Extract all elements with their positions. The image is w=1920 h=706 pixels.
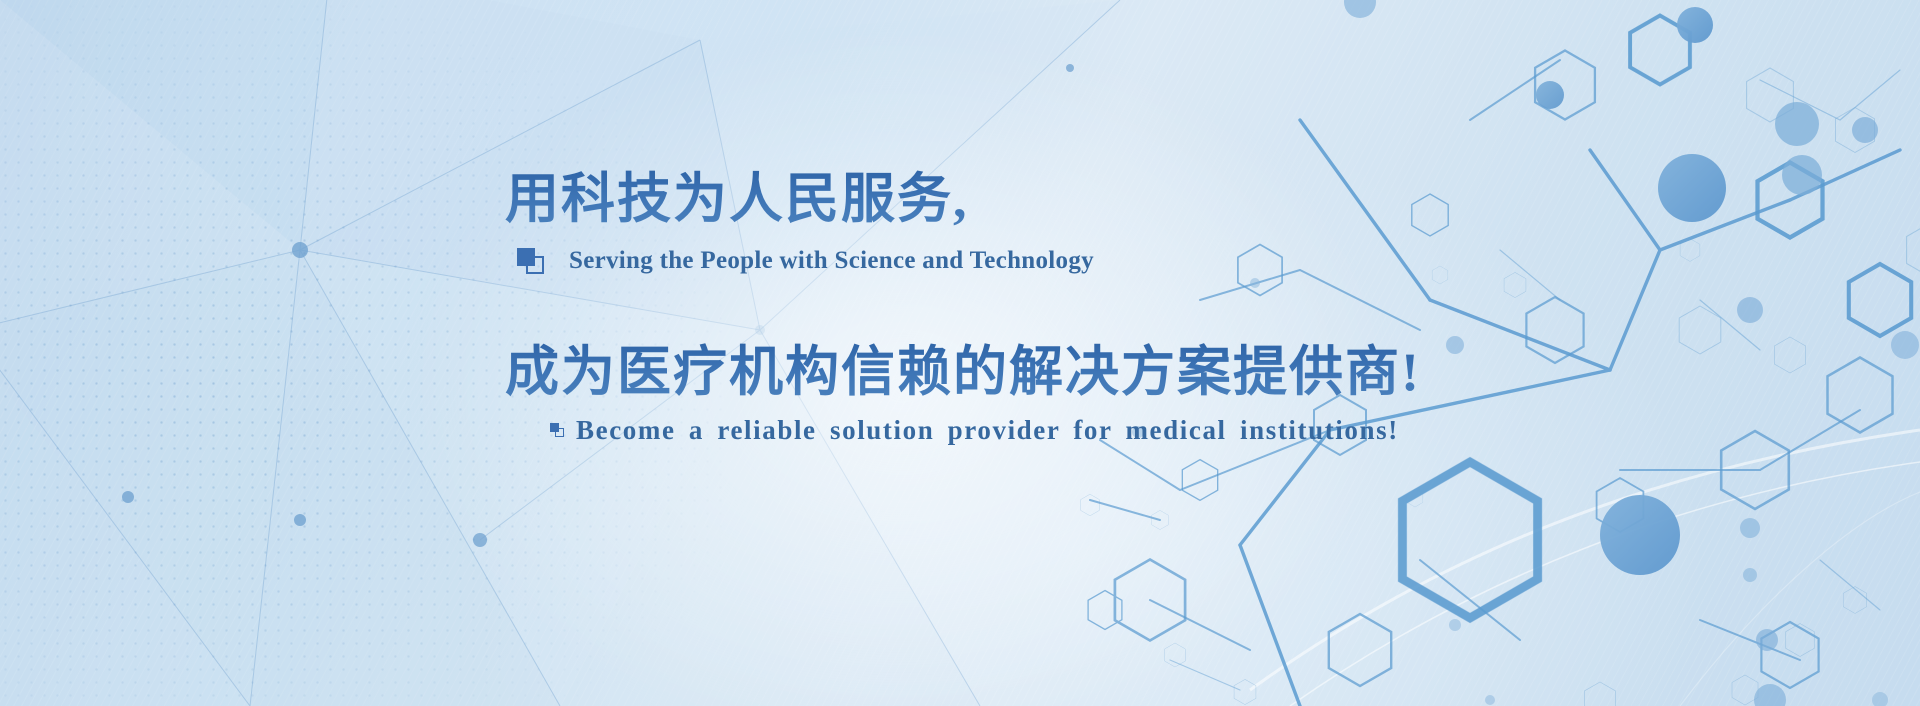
headline-secondary: 成为医疗机构信赖的解决方案提供商!: [505, 343, 1485, 402]
double-square-icon-small-outline: [555, 428, 564, 437]
subtitle-secondary: Become a reliable solution provider for …: [576, 415, 1399, 446]
headline-block: 用科技为人民服务, Serving the People with Scienc…: [505, 170, 1485, 446]
hero-banner: 用科技为人民服务, Serving the People with Scienc…: [0, 0, 1920, 706]
headline-primary: 用科技为人民服务,: [505, 170, 1485, 229]
double-square-icon: [517, 248, 543, 274]
subtitle-primary-row: Serving the People with Science and Tech…: [505, 247, 1485, 275]
subtitle-secondary-row: Become a reliable solution provider for …: [505, 415, 1485, 446]
double-square-icon-small: [550, 423, 564, 437]
subtitle-primary: Serving the People with Science and Tech…: [569, 247, 1094, 275]
double-square-icon-outline: [526, 256, 544, 274]
